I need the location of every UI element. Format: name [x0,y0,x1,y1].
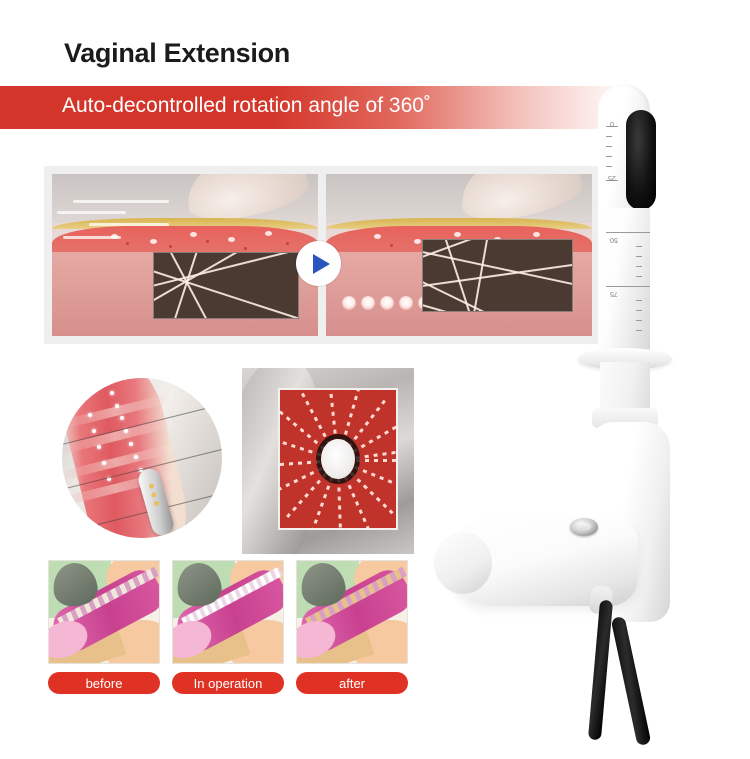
before-after-row: before In operation after [48,560,408,694]
page-title: Vaginal Extension [64,38,290,69]
before-after-item: In operation [172,560,284,694]
handpiece-device: 0 25 50 75 100 125 [430,70,750,730]
stage-label-before: before [48,672,160,694]
scale-number: 25 [608,174,616,181]
scale-number: 0 [610,120,614,127]
grip-end-cap [434,532,492,594]
play-button[interactable] [296,241,341,286]
dermis-layer [52,226,318,255]
derm-panel-before: COLLAGEN FIBER [52,174,318,336]
graduation-scale: 0 25 50 75 100 125 [430,70,750,730]
play-icon [313,254,330,274]
radial-laser-field [278,388,398,530]
scale-number: 75 [610,290,618,297]
anatomy-illustration-before [48,560,160,664]
subtitle-text: Auto-decontrolled rotation angle of 360˚ [62,94,431,118]
collagen-inset-before: COLLAGEN FIBER [153,252,299,319]
laser-pattern-panel [242,368,414,554]
product-image: Vaginal Extension Auto-decontrolled rota… [0,0,750,759]
probe-cross-section [321,439,355,479]
before-after-item: before [48,560,160,694]
treatment-node-row [342,296,432,310]
before-after-item: after [296,560,408,694]
canal-closeup [62,378,222,538]
anatomy-illustration-after [296,560,408,664]
anatomy-illustration-in-operation [172,560,284,664]
emitter-dots [149,483,155,489]
power-button[interactable] [570,518,598,536]
probe-lower-shaft [600,362,650,414]
scale-number: 50 [610,236,618,243]
stage-label-after: after [296,672,408,694]
stage-label-in-operation: In operation [172,672,284,694]
